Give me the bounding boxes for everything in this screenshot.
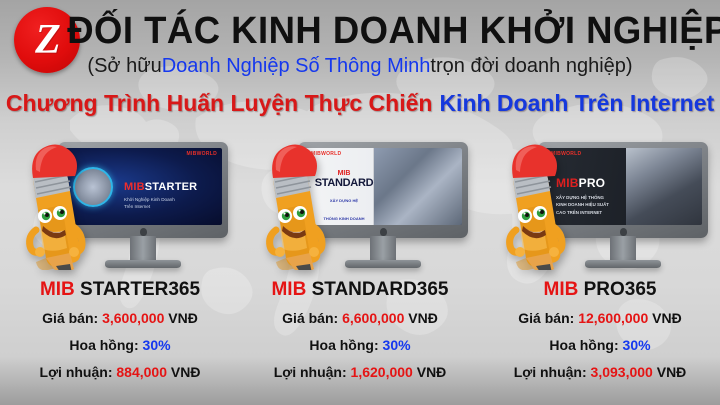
commission-row-standard: Hoa hồng: 30% — [240, 332, 480, 359]
monitor-stand-foot — [105, 260, 181, 268]
screen-title-mib: MIB — [124, 181, 145, 193]
monitor-stand-neck — [130, 236, 156, 262]
currency-label: VNĐ — [168, 310, 198, 326]
screen-title-name: PRO — [579, 176, 606, 190]
page-subtitle: (Sở hữu Doanh Nghiệp Số Thông Minh trọn … — [0, 52, 720, 80]
product-title-pro: MIB PRO365 — [480, 276, 720, 305]
price-label: Giá bán: — [282, 310, 338, 326]
tagline-red-part: Chương Trình Huấn Luyện Thực Chiến — [6, 90, 433, 117]
screen-title-starter: MIBSTARTER — [124, 181, 197, 193]
product-mib-prefix: MIB — [271, 279, 306, 300]
pencil-mascot-icon — [256, 130, 340, 270]
commission-label: Hoa hồng: — [69, 337, 138, 353]
currency-label: VNĐ — [652, 310, 682, 326]
business-team-photo-icon — [374, 148, 462, 225]
commission-value: 30% — [143, 337, 171, 353]
tagline-blue-part: Kinh Doanh Trên Internet — [439, 90, 714, 117]
price-value: 6,600,000 — [342, 310, 404, 326]
page-tagline: Chương Trình Huấn Luyện Thực ChiếnKinh D… — [0, 88, 720, 118]
profit-label: Lợi nhuận: — [40, 364, 113, 380]
subtitle-prefix: (Sở hữu — [87, 55, 161, 78]
currency-label: VNĐ — [417, 364, 447, 380]
product-title-starter: MIB STARTER365 — [0, 276, 240, 305]
currency-label: VNĐ — [408, 310, 438, 326]
profit-row-standard: Lợi nhuận: 1,620,000 VNĐ — [240, 359, 480, 386]
product-mib-prefix: MIB — [40, 279, 75, 300]
product-name: PRO365 — [584, 279, 657, 300]
product-name: STANDARD365 — [312, 279, 449, 300]
screen-brand-logo: MIBWORLD — [187, 151, 217, 157]
profit-value: 3,093,000 — [591, 364, 653, 380]
product-visual-starter[interactable]: MIBWORLD MIBSTARTER Khởi Nghiệp Kinh Doa… — [0, 124, 240, 276]
monitor-stand-neck — [610, 236, 636, 262]
price-row-pro: Giá bán: 12,600,000 VNĐ — [480, 305, 720, 332]
monitor-logo-icon — [380, 228, 387, 236]
product-name: STARTER365 — [80, 279, 200, 300]
price-label: Giá bán: — [518, 310, 574, 326]
profit-value: 884,000 — [116, 364, 167, 380]
commission-value: 30% — [383, 337, 411, 353]
monitor-stand-foot — [345, 260, 421, 268]
pencil-mascot-icon — [496, 130, 580, 270]
commission-row-pro: Hoa hồng: 30% — [480, 332, 720, 359]
price-card-starter[interactable]: MIB STARTER365 Giá bán: 3,600,000 VNĐ Ho… — [0, 272, 240, 405]
profit-row-pro: Lợi nhuận: 3,093,000 VNĐ — [480, 359, 720, 386]
currency-label: VNĐ — [171, 364, 201, 380]
product-title-standard: MIB STANDARD365 — [240, 276, 480, 305]
profit-label: Lợi nhuận: — [274, 364, 347, 380]
commission-value: 30% — [623, 337, 651, 353]
product-visual-strip: MIBWORLD MIBSTARTER Khởi Nghiệp Kinh Doa… — [0, 124, 720, 276]
screen-subtitle-starter: Khởi Nghiệp Kinh Doanh Trên Internet — [124, 196, 175, 210]
price-value: 12,600,000 — [578, 310, 648, 326]
product-visual-pro[interactable]: MIBWORLD MIBPRO XÂY DỰNG HỆ THỐNG KINH D… — [480, 124, 720, 276]
price-value: 3,600,000 — [102, 310, 164, 326]
commission-label: Hoa hồng: — [309, 337, 378, 353]
page-title: ĐỐI TÁC KINH DOANH KHỞI NGHIỆP — [97, 8, 700, 54]
subtitle-suffix: trọn đời doanh nghiệp) — [430, 55, 632, 78]
page-header: Z ĐỐI TÁC KINH DOANH KHỞI NGHIỆP (Sở hữu… — [0, 0, 720, 120]
pricing-row: MIB STARTER365 Giá bán: 3,600,000 VNĐ Ho… — [0, 272, 720, 405]
monitor-logo-icon — [620, 228, 627, 236]
pencil-mascot-icon — [16, 130, 100, 270]
currency-label: VNĐ — [657, 364, 687, 380]
commission-label: Hoa hồng: — [549, 337, 618, 353]
profit-label: Lợi nhuận: — [514, 364, 587, 380]
profit-value: 1,620,000 — [351, 364, 413, 380]
monitor-stand-neck — [370, 236, 396, 262]
product-mib-prefix: MIB — [544, 279, 579, 300]
price-label: Giá bán: — [42, 310, 98, 326]
price-card-pro[interactable]: MIB PRO365 Giá bán: 12,600,000 VNĐ Hoa h… — [480, 272, 720, 405]
price-row-starter: Giá bán: 3,600,000 VNĐ — [0, 305, 240, 332]
price-card-standard[interactable]: MIB STANDARD365 Giá bán: 6,600,000 VNĐ H… — [240, 272, 480, 405]
price-row-standard: Giá bán: 6,600,000 VNĐ — [240, 305, 480, 332]
profit-row-starter: Lợi nhuận: 884,000 VNĐ — [0, 359, 240, 386]
monitor-stand-foot — [585, 260, 661, 268]
monitor-logo-icon — [140, 228, 147, 236]
screen-title-name: STARTER — [145, 181, 198, 193]
product-visual-standard[interactable]: MIBWORLD MIB STANDARD XÂY DỰNG HỆ THỐNG … — [240, 124, 480, 276]
businessman-laptop-photo-icon — [626, 148, 702, 225]
subtitle-highlight: Doanh Nghiệp Số Thông Minh — [162, 55, 431, 78]
commission-row-starter: Hoa hồng: 30% — [0, 332, 240, 359]
